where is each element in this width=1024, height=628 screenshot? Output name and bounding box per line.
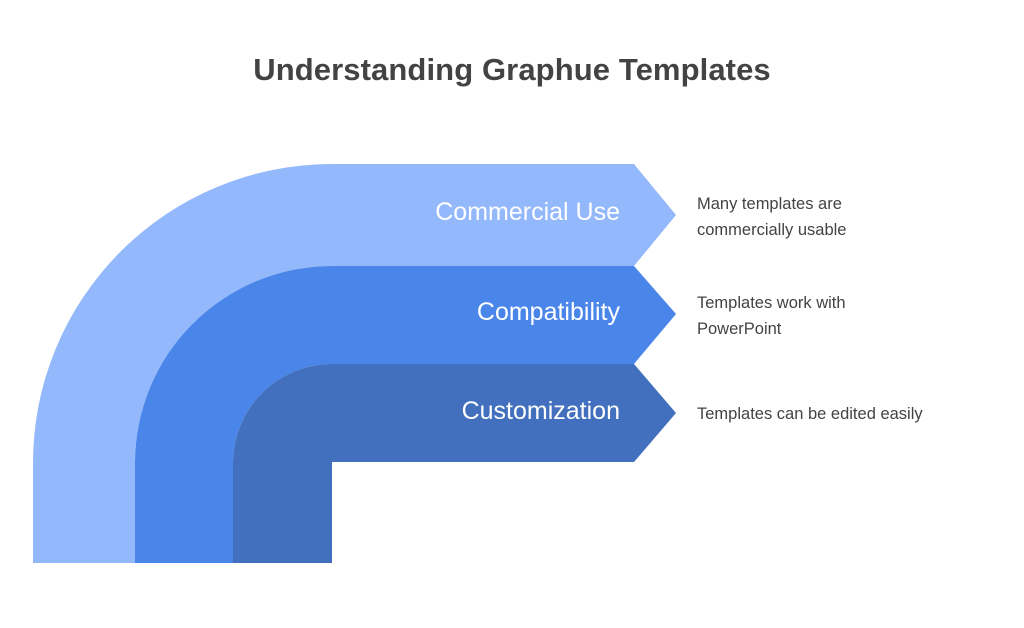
band-label-compatibility: Compatibility	[320, 300, 620, 325]
band-label-customization: Customization	[320, 399, 620, 424]
slide-canvas: Understanding Graphue Templates Commerci…	[0, 0, 1024, 628]
band-description-compatibility: Templates work with PowerPoint	[697, 291, 997, 342]
band-shape-customization[interactable]	[233, 364, 676, 563]
band-label-commercial-use: Commercial Use	[320, 200, 620, 225]
band-description-customization: Templates can be edited easily	[697, 402, 1017, 428]
band-description-commercial-use: Many templates are commercially usable	[697, 192, 997, 243]
